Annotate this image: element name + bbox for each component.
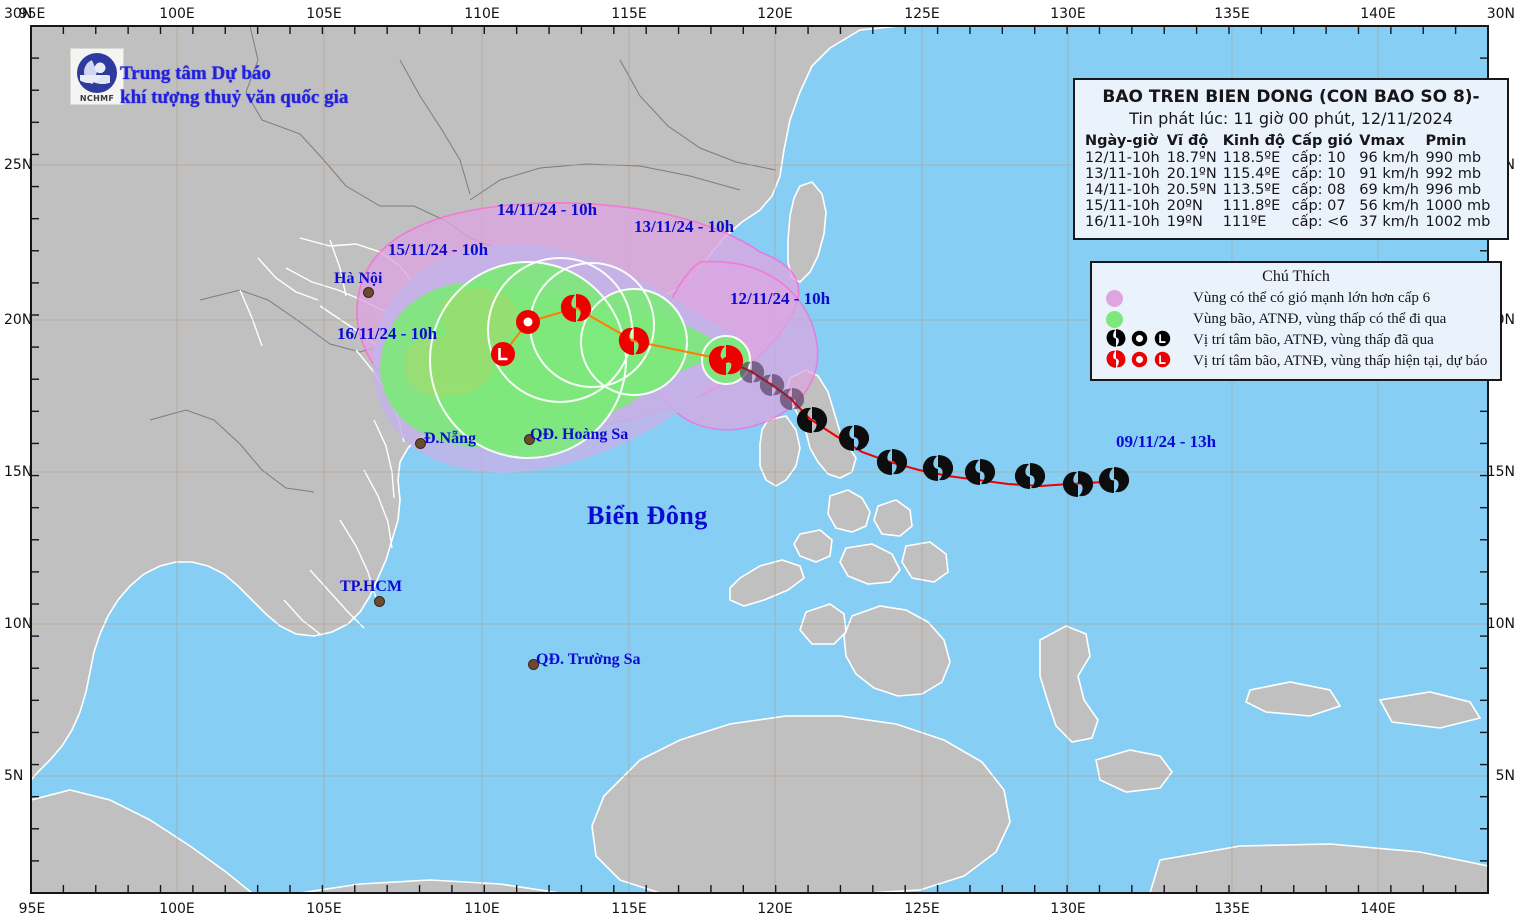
lon-tick-label: 105E [306,901,342,917]
lat-tick-label: 15N [1487,464,1515,480]
forecast-cell-lat: 20.1ºN [1167,166,1223,182]
lon-tick-label: 125E [904,901,940,917]
city-label: Hà Nội [334,270,382,288]
bulletin-title: BAO TREN BIEN DONG (CON BAO SO 8)- [1085,87,1497,107]
lon-tick-label: 115E [611,6,647,22]
forecast-column-header: Pmin [1425,133,1497,150]
forecast-cell-cap: cấp: 10 [1292,150,1360,166]
legend-area-swatch [1106,290,1123,307]
forecast-cell-cap: cấp: 07 [1292,198,1360,214]
forecast-cell-vmax: 91 km/h [1359,166,1425,182]
legend-item: Vị trí tâm bão, ATNĐ, vùng thấp đã qua [1100,330,1492,351]
lat-tick-label: 15N [4,464,32,480]
legend-panel: Chú Thích Vùng có thể có gió mạnh lớn hơ… [1090,261,1502,381]
lon-tick-label: 95E [19,901,46,917]
lon-tick-label: 140E [1360,901,1396,917]
lat-tick-label: 30N [1487,6,1515,22]
logo-wave-icon [80,75,110,89]
forecast-cell-vmax: 69 km/h [1359,182,1425,198]
agency-name: Trung tâm Dự báo khí tượng thuỷ văn quốc… [120,62,348,111]
cyclone-icon [1106,349,1126,374]
forecast-cell-pmin: 1002 mb [1425,214,1497,230]
legend-label: Vị trí tâm bão, ATNĐ, vùng thấp hiện tại… [1193,353,1487,370]
city-label: TP.HCM [340,578,402,596]
legend-area-swatch [1106,311,1123,328]
legend-symbol [1100,349,1184,374]
forecast-time-label: 13/11/24 - 10h [634,217,734,237]
lon-tick-label: 125E [904,6,940,22]
legend-symbol [1100,290,1184,307]
forecast-table-header: Ngày-giờVĩ độKinh độCấp gióVmaxPmin [1085,133,1497,150]
forecast-cell-lat: 20.5ºN [1167,182,1223,198]
forecast-cell-datetime: 12/11-10h [1085,150,1167,166]
forecast-table-body: 12/11-10h18.7ºN118.5ºEcấp: 1096 km/h990 … [1085,150,1497,230]
forecast-cell-datetime: 15/11-10h [1085,198,1167,214]
agency-name-line1: Trung tâm Dự báo [120,62,348,86]
forecast-cell-datetime: 16/11-10h [1085,214,1167,230]
forecast-time-label: 09/11/24 - 13h [1116,432,1216,452]
lon-tick-label: 110E [464,6,500,22]
legend-symbol [1100,311,1184,328]
forecast-time-label: 16/11/24 - 10h [337,324,437,344]
low-l-icon [1153,350,1172,374]
forecast-table-row: 15/11-10h20ºN111.8ºEcấp: 0756 km/h1000 m… [1085,198,1497,214]
forecast-column-header: Vĩ độ [1167,133,1223,150]
current-position-marker [709,345,743,375]
forecast-cell-cap: cấp: 08 [1292,182,1360,198]
forecast-cell-lon: 113.5ºE [1223,182,1292,198]
forecast-column-header: Kinh độ [1223,133,1292,150]
lon-tick-label: 100E [159,901,195,917]
agency-name-line2: khí tượng thuỷ văn quốc gia [120,86,348,110]
legend-item: Vùng có thể có gió mạnh lớn hơn cấp 6 [1100,288,1492,309]
forecast-column-header: Ngày-giờ [1085,133,1167,150]
forecast-cell-pmin: 990 mb [1425,150,1497,166]
lon-tick-label: 130E [1050,6,1086,22]
forecast-time-label: 15/11/24 - 10h [388,240,488,260]
lon-tick-label: 120E [757,6,793,22]
forecast-cell-vmax: 96 km/h [1359,150,1425,166]
lon-tick-label: 130E [1050,901,1086,917]
forecast-cell-lon: 111ºE [1223,214,1292,230]
forecast-table-row: 14/11-10h20.5ºN113.5ºEcấp: 0869 km/h996 … [1085,182,1497,198]
forecast-cell-vmax: 37 km/h [1359,214,1425,230]
forecast-time-label: 12/11/24 - 10h [730,289,830,309]
forecast-cell-datetime: 13/11-10h [1085,166,1167,182]
sea-name-label: Biển Đông [587,501,708,531]
forecast-marker-16-low [491,342,515,366]
lat-tick-label: 5N [1496,768,1515,784]
forecast-cell-datetime: 14/11-10h [1085,182,1167,198]
forecast-table-row: 16/11-10h19ºN111ºEcấp: <637 km/h1002 mb [1085,214,1497,230]
lat-tick-label: 5N [4,768,23,784]
lon-tick-label: 100E [159,6,195,22]
forecast-cell-lon: 118.5ºE [1223,150,1292,166]
forecast-marker-15-depression [516,310,540,334]
forecast-cell-cap: cấp: 10 [1292,166,1360,182]
legend-label: Vùng bão, ATNĐ, vùng thấp có thể đi qua [1193,311,1446,328]
forecast-time-label: 14/11/24 - 10h [497,200,597,220]
lon-tick-label: 140E [1360,6,1396,22]
depression-o-icon [1130,350,1149,374]
forecast-cell-lat: 18.7ºN [1167,150,1223,166]
lon-tick-label: 135E [1214,901,1250,917]
legend-item: Vị trí tâm bão, ATNĐ, vùng thấp hiện tại… [1100,351,1492,372]
forecast-cell-pmin: 1000 mb [1425,198,1497,214]
forecast-table: Ngày-giờVĩ độKinh độCấp gióVmaxPmin 12/1… [1085,133,1497,230]
logo-acronym: NCHMF [71,94,123,103]
lat-tick-label: 30N [4,6,32,22]
legend-label: Vùng có thể có gió mạnh lớn hơn cấp 6 [1193,290,1430,307]
bulletin-issued-time: Tin phát lúc: 11 giờ 00 phút, 12/11/2024 [1085,109,1497,128]
forecast-cell-pmin: 992 mb [1425,166,1497,182]
forecast-cell-pmin: 996 mb [1425,182,1497,198]
forecast-cell-lon: 115.4ºE [1223,166,1292,182]
forecast-cell-lat: 20ºN [1167,198,1223,214]
forecast-cell-vmax: 56 km/h [1359,198,1425,214]
forecast-table-row: 13/11-10h20.1ºN115.4ºEcấp: 1091 km/h992 … [1085,166,1497,182]
lat-tick-label: 25N [4,157,32,173]
lon-tick-label: 135E [1214,6,1250,22]
city-dot [363,287,374,298]
lat-tick-label: 10N [4,616,32,632]
city-label: Đ.Nẵng [424,430,476,448]
legend-label: Vị trí tâm bão, ATNĐ, vùng thấp đã qua [1193,332,1434,349]
lat-tick-label: 20N [4,312,32,328]
forecast-table-row: 12/11-10h18.7ºN118.5ºEcấp: 1096 km/h990 … [1085,150,1497,166]
forecast-cell-cap: cấp: <6 [1292,214,1360,230]
lat-tick-label: 10N [1487,616,1515,632]
legend-title: Chú Thích [1100,268,1492,286]
lon-tick-label: 110E [464,901,500,917]
lon-tick-label: 105E [306,6,342,22]
bulletin-panel: BAO TREN BIEN DONG (CON BAO SO 8)- Tin p… [1073,78,1509,240]
lon-tick-label: 120E [757,901,793,917]
legend-item: Vùng bão, ATNĐ, vùng thấp có thể đi qua [1100,309,1492,330]
city-label: QĐ. Hoàng Sa [530,426,628,444]
forecast-cell-lon: 111.8ºE [1223,198,1292,214]
legend-rows: Vùng có thể có gió mạnh lớn hơn cấp 6Vùn… [1100,288,1492,372]
forecast-column-header: Vmax [1359,133,1425,150]
lon-tick-label: 115E [611,901,647,917]
typhoon-forecast-map: 95E100E105E110E115E120E125E130E135E140E … [0,0,1519,919]
city-label: QĐ. Trường Sa [536,651,641,669]
city-dot [374,596,385,607]
nchmf-logo: NCHMF [70,48,124,105]
forecast-column-header: Cấp gió [1292,133,1360,150]
forecast-cell-lat: 19ºN [1167,214,1223,230]
